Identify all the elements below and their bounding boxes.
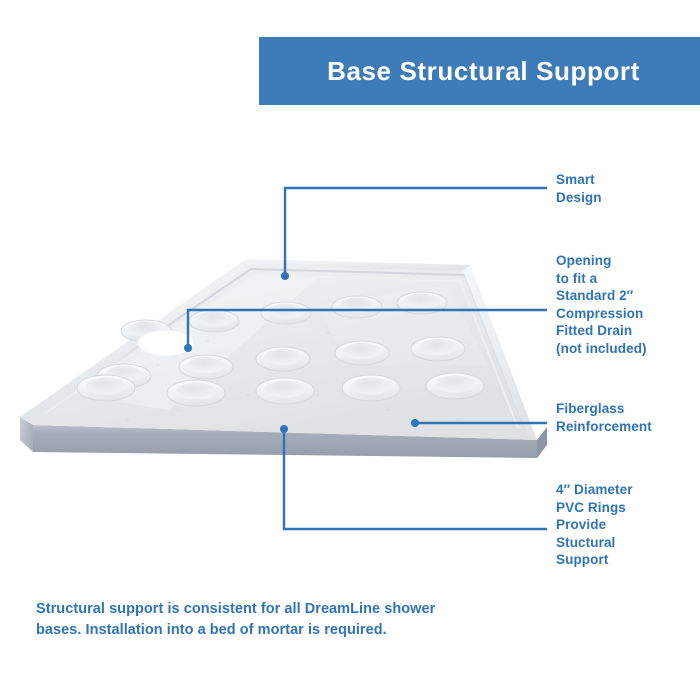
drain-opening — [138, 330, 194, 356]
pvc-ring — [256, 378, 314, 404]
footnote-text: Structural support is consistent for all… — [36, 599, 466, 641]
base-right-face — [537, 427, 547, 458]
pvc-ring — [179, 355, 233, 379]
shower-base-illustration — [18, 245, 548, 470]
pvc-ring — [397, 292, 447, 314]
pvc-ring — [426, 373, 484, 399]
callout-pvc-rings: 4″ Diameter PVC Rings Provide Stuctural … — [556, 481, 700, 569]
pvc-ring — [167, 380, 225, 406]
header-bar: Base Structural Support — [259, 37, 700, 105]
callout-fiberglass: Fiberglass Reinforcement — [556, 400, 700, 435]
callout-smart-design: Smart Design — [556, 171, 698, 206]
pvc-ring — [189, 310, 239, 332]
pvc-ring — [342, 375, 400, 401]
pvc-ring — [256, 347, 310, 371]
callout-drain-opening: Opening to fit a Standard 2″ Compression… — [556, 252, 700, 357]
page-title: Base Structural Support — [259, 37, 700, 105]
pvc-ring — [77, 375, 135, 401]
pvc-ring — [332, 296, 382, 318]
infographic-page: Base Structural Support — [0, 0, 700, 700]
pvc-ring — [261, 302, 311, 324]
pvc-ring — [411, 337, 465, 361]
pvc-ring — [335, 341, 389, 365]
